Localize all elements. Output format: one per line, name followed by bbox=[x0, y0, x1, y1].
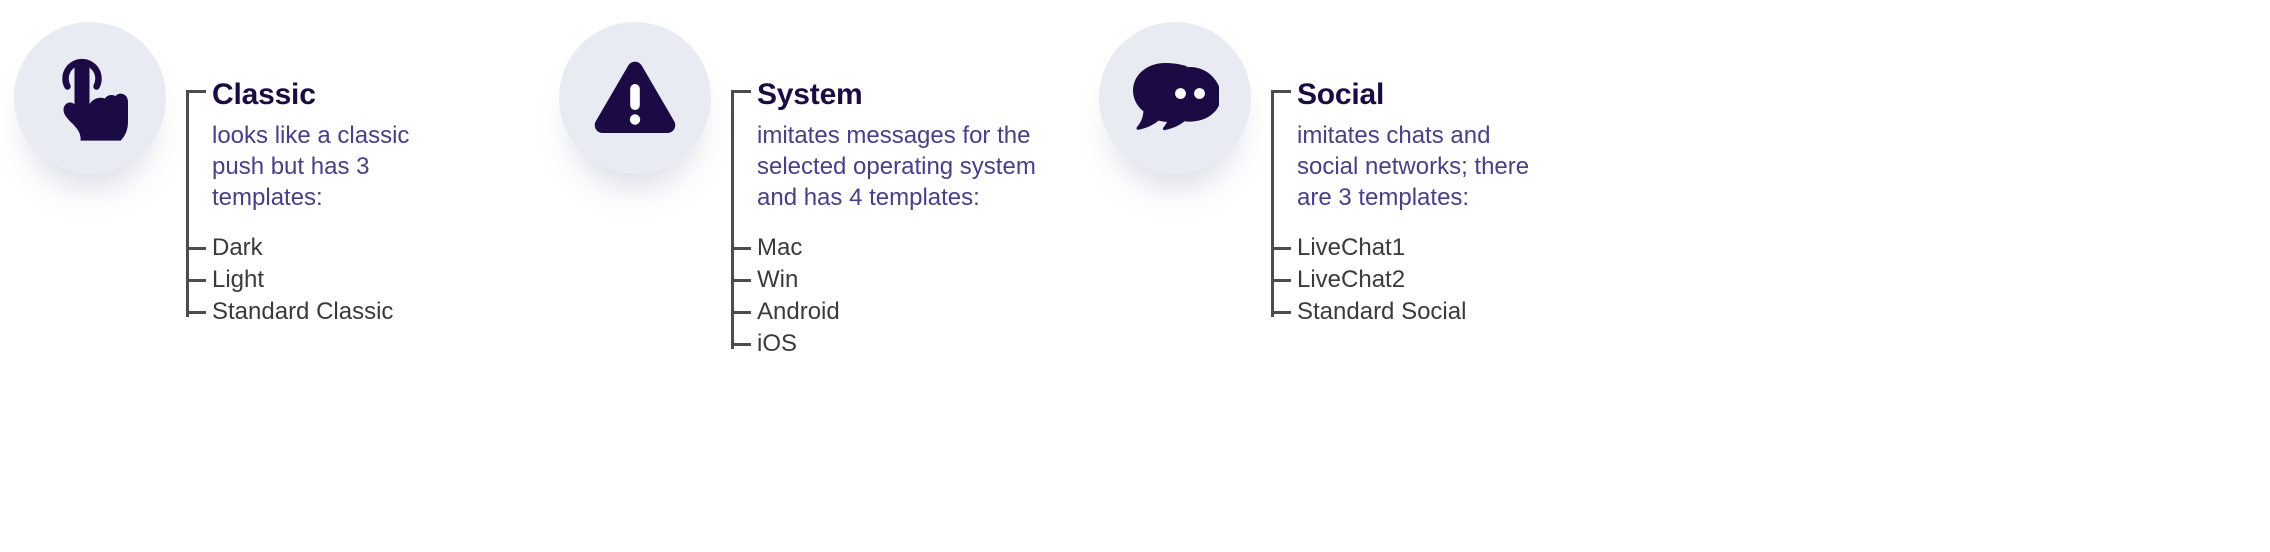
chat-bubbles-icon bbox=[1131, 59, 1219, 137]
group-title-system: System bbox=[757, 78, 863, 112]
list-item: LiveChat2 bbox=[1297, 268, 1405, 292]
tree-tick-item-3 bbox=[731, 343, 751, 346]
list-item: Dark bbox=[212, 236, 263, 260]
tree-tick-item-0 bbox=[1271, 247, 1291, 250]
list-item: LiveChat1 bbox=[1297, 236, 1405, 260]
tree-tick-title bbox=[186, 90, 206, 93]
group-description-social: imitates chats and social networks; ther… bbox=[1297, 120, 1547, 213]
tree-tick-item-2 bbox=[186, 311, 206, 314]
template-group-system: System imitates messages for the selecte… bbox=[545, 0, 1085, 552]
tree-tick-item-1 bbox=[1271, 279, 1291, 282]
list-item: Light bbox=[212, 268, 264, 292]
template-group-classic: Classic looks like a classic push but ha… bbox=[0, 0, 545, 552]
tree-tick-item-2 bbox=[731, 311, 751, 314]
touch-tap-hand-icon bbox=[51, 55, 129, 141]
list-item: Standard Social bbox=[1297, 300, 1466, 324]
tree-tick-item-1 bbox=[186, 279, 206, 282]
list-item: Android bbox=[757, 300, 840, 324]
group-description-system: imitates messages for the selected opera… bbox=[757, 120, 1067, 213]
tree-tick-item-0 bbox=[186, 247, 206, 250]
warning-triangle-icon bbox=[593, 60, 677, 136]
warning-triangle-icon-badge bbox=[559, 22, 711, 174]
group-title-social: Social bbox=[1297, 78, 1384, 112]
template-group-social: Social imitates chats and social network… bbox=[1085, 0, 2270, 552]
tree-tick-title bbox=[731, 90, 751, 93]
touch-tap-hand-icon-badge bbox=[14, 22, 166, 174]
group-description-classic: looks like a classic push but has 3 temp… bbox=[212, 120, 442, 213]
push-template-types-diagram: Classic looks like a classic push but ha… bbox=[0, 0, 2270, 552]
tree-tick-item-0 bbox=[731, 247, 751, 250]
list-item: iOS bbox=[757, 332, 797, 356]
list-item: Win bbox=[757, 268, 798, 292]
tree-trunk-line bbox=[1271, 90, 1274, 317]
list-item: Standard Classic bbox=[212, 300, 393, 324]
group-title-classic: Classic bbox=[212, 78, 316, 112]
tree-tick-item-2 bbox=[1271, 311, 1291, 314]
chat-bubbles-icon-badge bbox=[1099, 22, 1251, 174]
tree-tick-title bbox=[1271, 90, 1291, 93]
list-item: Mac bbox=[757, 236, 802, 260]
tree-trunk-line bbox=[186, 90, 189, 317]
tree-tick-item-1 bbox=[731, 279, 751, 282]
